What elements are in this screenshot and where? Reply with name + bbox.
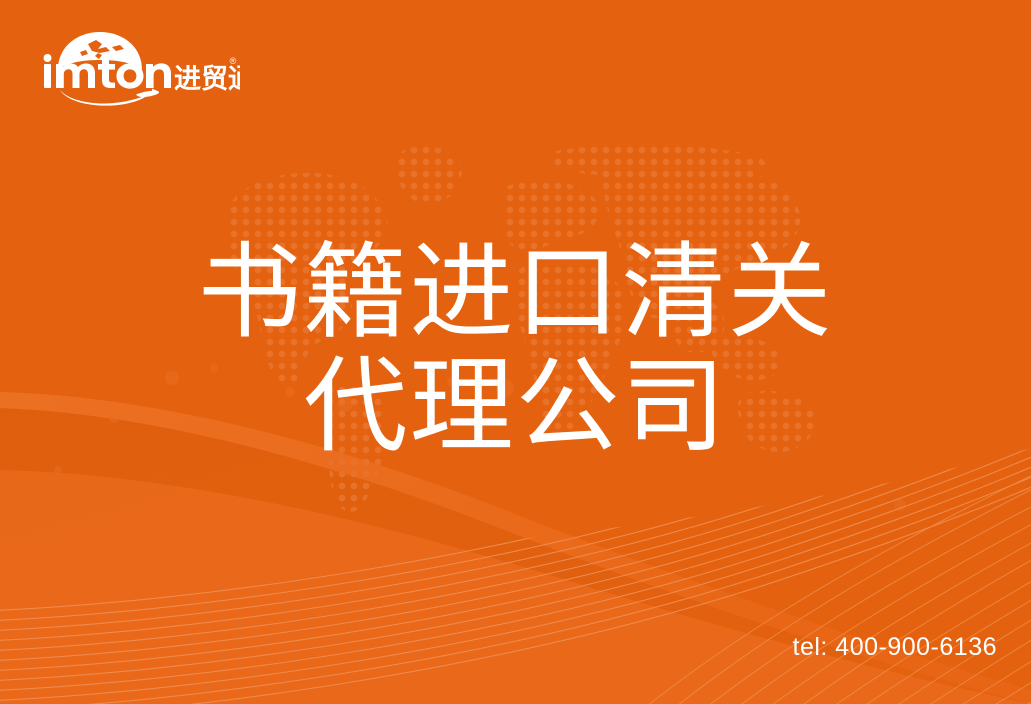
headline-line-2: 代理公司: [0, 350, 1031, 464]
registered-trademark-icon: ®: [230, 56, 237, 66]
swoosh-arrow-icon: [60, 89, 159, 106]
logo-wordmark-chinese: 进贸通: [174, 64, 240, 95]
headline-line-1: 书籍进口清关: [0, 236, 1031, 350]
brand-logo[interactable]: 进贸通 ®: [40, 26, 240, 106]
headline: 书籍进口清关 代理公司: [0, 236, 1031, 464]
contact-telephone[interactable]: tel: 400-900-6136: [793, 633, 997, 662]
promo-banner: 进贸通 ® 书籍进口清关 代理公司 tel: 400-900-6136: [0, 0, 1031, 704]
